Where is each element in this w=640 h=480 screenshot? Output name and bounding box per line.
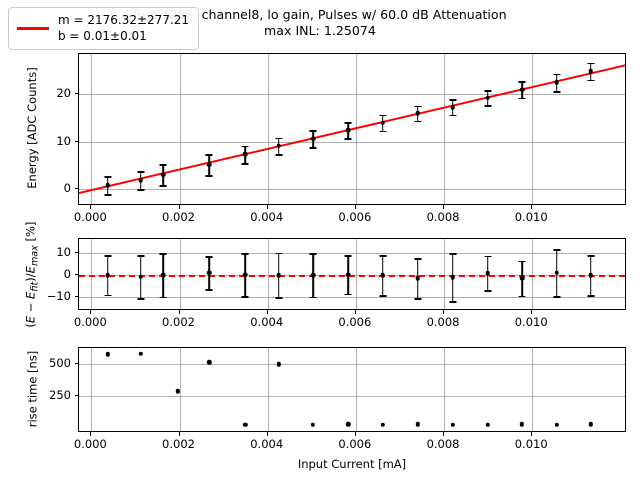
x-tick-mark bbox=[90, 432, 91, 436]
data-point bbox=[415, 422, 419, 426]
data-point bbox=[415, 111, 420, 116]
error-bar-cap bbox=[206, 154, 213, 156]
x-tick-mark bbox=[443, 432, 444, 436]
x-tick-label: 0.010 bbox=[515, 437, 548, 451]
figure-canvas: Run 1988, channel8, lo gain, Pulses w/ 6… bbox=[0, 0, 640, 480]
x-tick-mark bbox=[531, 432, 532, 436]
error-bar-cap bbox=[310, 297, 317, 299]
error-bar-cap bbox=[449, 99, 456, 101]
gridline-horizontal bbox=[79, 189, 625, 190]
error-bar-cap bbox=[414, 121, 421, 123]
data-point bbox=[277, 362, 281, 366]
x-tick-mark bbox=[90, 310, 91, 314]
data-point bbox=[276, 273, 281, 278]
gridline-vertical bbox=[180, 54, 181, 204]
error-bar-cap bbox=[379, 255, 386, 257]
data-point bbox=[243, 272, 248, 277]
y-tick-label: 500 bbox=[18, 356, 71, 370]
data-point bbox=[451, 105, 456, 110]
data-point bbox=[311, 273, 316, 278]
data-point bbox=[485, 95, 490, 100]
error-bar-cap bbox=[242, 163, 249, 165]
error-bar-cap bbox=[553, 91, 560, 93]
data-point bbox=[346, 128, 351, 133]
data-point bbox=[207, 270, 212, 275]
y-tick-label: 250 bbox=[18, 388, 71, 402]
error-bar-cap bbox=[137, 298, 144, 300]
error-bar-cap bbox=[414, 106, 421, 108]
data-point bbox=[415, 276, 420, 281]
error-bar-cap bbox=[449, 115, 456, 117]
error-bar-cap bbox=[553, 249, 560, 251]
error-bar-cap bbox=[345, 294, 352, 296]
x-tick-label: 0.000 bbox=[74, 210, 107, 224]
y-tick-mark bbox=[75, 274, 79, 275]
y-tick-label: 20 bbox=[18, 86, 71, 100]
risetime-plot-area bbox=[79, 348, 625, 431]
gridline-vertical bbox=[532, 54, 533, 204]
x-tick-label: 0.008 bbox=[427, 315, 460, 329]
data-point bbox=[243, 152, 248, 157]
error-bar-cap bbox=[519, 98, 526, 100]
data-point bbox=[311, 136, 316, 141]
error-bar-cap bbox=[379, 131, 386, 133]
error-bar-cap bbox=[310, 147, 317, 149]
error-bar-cap bbox=[275, 154, 282, 156]
data-point bbox=[138, 274, 143, 279]
error-bar-cap bbox=[137, 255, 144, 257]
residual-plot-area bbox=[79, 239, 625, 309]
x-tick-label: 0.006 bbox=[338, 210, 371, 224]
x-tick-label: 0.010 bbox=[515, 210, 548, 224]
x-tick-mark bbox=[90, 205, 91, 209]
energy-y-axis-label: Energy [ADC Counts] bbox=[25, 32, 39, 224]
error-bar-cap bbox=[587, 255, 594, 257]
data-point bbox=[380, 273, 385, 278]
y-tick-mark bbox=[75, 395, 79, 396]
error-bar-cap bbox=[587, 80, 594, 82]
data-point bbox=[161, 273, 166, 278]
error-bar-cap bbox=[104, 194, 111, 196]
data-point bbox=[485, 271, 490, 276]
data-point bbox=[139, 352, 143, 356]
error-bar-cap bbox=[379, 295, 386, 297]
x-tick-mark bbox=[531, 205, 532, 209]
data-point bbox=[105, 183, 110, 188]
x-tick-label: 0.000 bbox=[74, 315, 107, 329]
gridline-vertical bbox=[444, 54, 445, 204]
error-bar-cap bbox=[275, 253, 282, 255]
error-bar-cap bbox=[104, 176, 111, 178]
error-bar-cap bbox=[484, 290, 491, 292]
error-bar-cap bbox=[242, 296, 249, 298]
fit-legend: m = 2176.32±277.21 b = 0.01±0.01 bbox=[8, 7, 199, 50]
error-bar-cap bbox=[414, 298, 421, 300]
x-tick-mark bbox=[267, 205, 268, 209]
x-tick-label: 0.006 bbox=[338, 315, 371, 329]
error-bar-cap bbox=[484, 256, 491, 258]
y-tick-mark bbox=[75, 296, 79, 297]
error-bar-cap bbox=[206, 289, 213, 291]
data-point bbox=[105, 352, 109, 356]
error-bar-cap bbox=[484, 90, 491, 92]
y-tick-mark bbox=[75, 93, 79, 94]
error-bar-cap bbox=[275, 138, 282, 140]
x-tick-mark bbox=[179, 310, 180, 314]
error-bar-cap bbox=[519, 261, 526, 263]
gridline-vertical bbox=[91, 239, 92, 309]
x-tick-mark bbox=[179, 205, 180, 209]
legend-intercept-label: b = 0.01±0.01 bbox=[58, 29, 189, 44]
data-point bbox=[485, 422, 489, 426]
data-point bbox=[451, 422, 455, 426]
error-bar-cap bbox=[587, 295, 594, 297]
data-point bbox=[346, 422, 350, 426]
error-bar-cap bbox=[484, 105, 491, 107]
data-point bbox=[311, 422, 315, 426]
error-bar-cap bbox=[206, 256, 213, 258]
x-tick-mark bbox=[355, 310, 356, 314]
error-bar-cap bbox=[242, 253, 249, 255]
y-tick-label: 0 bbox=[18, 181, 71, 195]
error-bar-cap bbox=[137, 171, 144, 173]
error-bar-cap bbox=[275, 297, 282, 299]
error-bar-cap bbox=[160, 185, 167, 187]
gridline-vertical bbox=[356, 348, 357, 431]
data-point bbox=[589, 273, 594, 278]
x-tick-label: 0.004 bbox=[250, 315, 283, 329]
x-tick-label: 0.006 bbox=[338, 437, 371, 451]
error-bar-cap bbox=[206, 175, 213, 177]
gridline-horizontal bbox=[79, 142, 625, 143]
x-tick-mark bbox=[267, 310, 268, 314]
error-bar-cap bbox=[553, 74, 560, 76]
data-point bbox=[589, 422, 593, 426]
data-point bbox=[380, 120, 385, 125]
data-point bbox=[243, 422, 247, 426]
data-point bbox=[589, 69, 594, 74]
x-tick-label: 0.010 bbox=[515, 315, 548, 329]
x-tick-mark bbox=[443, 310, 444, 314]
gridline-vertical bbox=[356, 239, 357, 309]
data-point bbox=[138, 178, 143, 183]
error-bar-cap bbox=[310, 253, 317, 255]
x-tick-label: 0.008 bbox=[427, 210, 460, 224]
error-bar-cap bbox=[519, 81, 526, 83]
gridline-vertical bbox=[180, 348, 181, 431]
y-tick-mark bbox=[75, 141, 79, 142]
x-axis-label: Input Current [mA] bbox=[78, 457, 626, 471]
gridline-vertical bbox=[268, 54, 269, 204]
data-point bbox=[520, 87, 525, 92]
error-bar-cap bbox=[160, 253, 167, 255]
x-tick-label: 0.004 bbox=[250, 210, 283, 224]
gridline-vertical bbox=[91, 348, 92, 431]
gridline-horizontal bbox=[79, 364, 625, 365]
error-bar-cap bbox=[160, 164, 167, 166]
error-bar-cap bbox=[587, 63, 594, 65]
gridline-horizontal bbox=[79, 94, 625, 95]
legend-line-swatch bbox=[16, 27, 50, 29]
gridline-vertical bbox=[268, 239, 269, 309]
data-point bbox=[381, 422, 385, 426]
gridline-horizontal bbox=[79, 396, 625, 397]
gridline-vertical bbox=[91, 54, 92, 204]
y-tick-mark bbox=[75, 252, 79, 253]
data-point bbox=[555, 271, 560, 276]
data-point bbox=[555, 422, 559, 426]
energy-plot-axes bbox=[78, 53, 626, 205]
risetime-plot-axes bbox=[78, 347, 626, 432]
error-bar-cap bbox=[379, 115, 386, 117]
error-bar-cap bbox=[104, 295, 111, 297]
gridline-vertical bbox=[532, 348, 533, 431]
legend-slope-label: m = 2176.32±277.21 bbox=[58, 13, 189, 28]
data-point bbox=[161, 172, 166, 177]
gridline-vertical bbox=[180, 239, 181, 309]
error-bar-cap bbox=[310, 130, 317, 132]
data-point bbox=[555, 80, 560, 85]
data-point bbox=[207, 163, 212, 168]
x-tick-label: 0.004 bbox=[250, 437, 283, 451]
y-tick-label: −10 bbox=[18, 289, 71, 303]
y-tick-mark bbox=[75, 363, 79, 364]
y-tick-label: 10 bbox=[18, 245, 71, 259]
x-tick-mark bbox=[355, 205, 356, 209]
residual-plot-axes bbox=[78, 238, 626, 310]
error-bar-cap bbox=[345, 138, 352, 140]
data-point bbox=[105, 273, 110, 278]
data-point bbox=[276, 144, 281, 149]
gridline-vertical bbox=[532, 239, 533, 309]
y-tick-label: 10 bbox=[18, 134, 71, 148]
data-point bbox=[520, 422, 524, 426]
error-bar-cap bbox=[242, 146, 249, 148]
error-bar-cap bbox=[449, 253, 456, 255]
error-bar-cap bbox=[137, 189, 144, 191]
y-tick-mark bbox=[75, 188, 79, 189]
data-point bbox=[451, 275, 456, 280]
x-tick-mark bbox=[179, 432, 180, 436]
fit-line-icon bbox=[17, 27, 49, 29]
error-bar-cap bbox=[519, 296, 526, 298]
x-tick-mark bbox=[355, 432, 356, 436]
y-tick-label: 0 bbox=[18, 267, 71, 281]
error-bar-cap bbox=[449, 301, 456, 303]
error-bar-cap bbox=[414, 258, 421, 260]
error-bar-cap bbox=[104, 255, 111, 257]
error-bar-cap bbox=[553, 296, 560, 298]
legend-text-block: m = 2176.32±277.21 b = 0.01±0.01 bbox=[58, 13, 189, 44]
x-tick-mark bbox=[531, 310, 532, 314]
x-tick-label: 0.002 bbox=[162, 437, 195, 451]
energy-plot-area bbox=[79, 54, 625, 204]
data-point bbox=[346, 272, 351, 277]
gridline-vertical bbox=[444, 348, 445, 431]
gridline-vertical bbox=[444, 239, 445, 309]
data-point bbox=[520, 276, 525, 281]
x-tick-mark bbox=[267, 432, 268, 436]
x-tick-label: 0.002 bbox=[162, 210, 195, 224]
x-tick-label: 0.000 bbox=[74, 437, 107, 451]
x-tick-mark bbox=[443, 205, 444, 209]
error-bar-cap bbox=[345, 255, 352, 257]
gridline-vertical bbox=[268, 348, 269, 431]
x-tick-label: 0.002 bbox=[162, 315, 195, 329]
error-bar-cap bbox=[160, 297, 167, 299]
error-bar-cap bbox=[345, 122, 352, 124]
x-tick-label: 0.008 bbox=[427, 437, 460, 451]
